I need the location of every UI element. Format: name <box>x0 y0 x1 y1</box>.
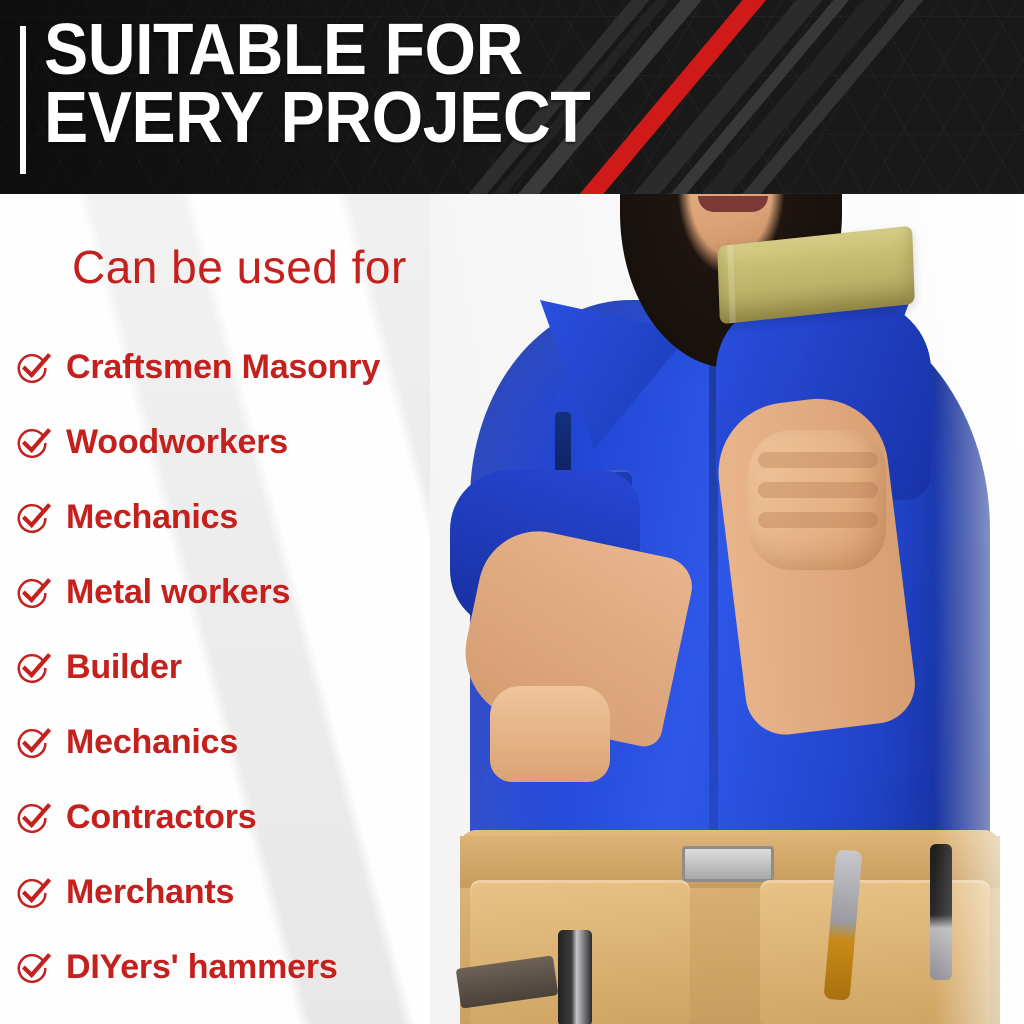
product-feature-poster: SUITABLE FOR EVERY PROJECT Can be used f… <box>0 0 1024 1024</box>
title-line-1: SUITABLE FOR <box>44 16 590 84</box>
tool-pouch-right <box>760 880 990 1024</box>
check-circle-icon <box>14 874 52 912</box>
page-title: SUITABLE FOR EVERY PROJECT <box>44 16 590 153</box>
list-item: Builder <box>14 630 520 705</box>
check-circle-icon <box>14 799 52 837</box>
list-item: Woodworkers <box>14 405 520 480</box>
check-circle-icon <box>14 424 52 462</box>
list-item-label: Builder <box>66 648 182 687</box>
check-circle-icon <box>14 649 52 687</box>
benefits-panel: Can be used for Craftsmen MasonryWoodwor… <box>0 194 520 1024</box>
list-item: DIYers' hammers <box>14 930 520 1005</box>
hex-key-set-in-pouch <box>558 930 592 1024</box>
list-item: Mechanics <box>14 480 520 555</box>
check-circle-icon <box>14 949 52 987</box>
tool-belt-buckle <box>682 846 774 882</box>
list-item-label: Merchants <box>66 873 234 912</box>
fist-gripping-hammer <box>748 430 886 570</box>
check-circle-icon <box>14 574 52 612</box>
list-item-label: Mechanics <box>66 498 238 537</box>
list-item-label: Mechanics <box>66 723 238 762</box>
title-line-2: EVERY PROJECT <box>44 84 590 152</box>
list-item: Craftsmen Masonry <box>14 330 520 405</box>
list-item-label: Woodworkers <box>66 423 288 462</box>
list-item: Merchants <box>14 855 520 930</box>
list-item: Contractors <box>14 780 520 855</box>
header-banner: SUITABLE FOR EVERY PROJECT <box>0 0 1024 194</box>
check-circle-icon <box>14 349 52 387</box>
title-accent-bar <box>20 26 26 174</box>
mouth <box>698 196 768 212</box>
knuckle-line-2 <box>758 482 878 498</box>
screwdriver-in-pouch <box>930 844 952 980</box>
check-circle-icon <box>14 499 52 537</box>
list-item-label: Craftsmen Masonry <box>66 348 380 387</box>
list-item-label: Contractors <box>66 798 257 837</box>
list-item-label: Metal workers <box>66 573 290 612</box>
list-item: Metal workers <box>14 555 520 630</box>
list-item-label: DIYers' hammers <box>66 948 338 987</box>
check-circle-icon <box>14 724 52 762</box>
use-case-list: Craftsmen MasonryWoodworkersMechanicsMet… <box>14 330 520 1005</box>
list-item: Mechanics <box>14 705 520 780</box>
knuckle-line-1 <box>758 452 878 468</box>
kicker-heading: Can be used for <box>72 240 407 294</box>
knuckle-line-3 <box>758 512 878 528</box>
diagonal-stripes-decoration <box>724 0 1024 194</box>
